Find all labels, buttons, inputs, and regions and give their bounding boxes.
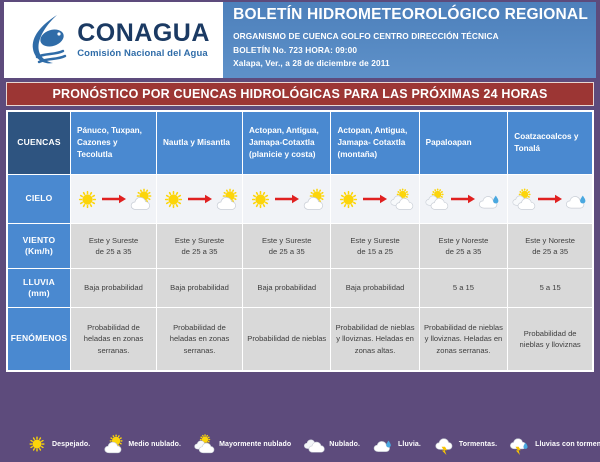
rain-cell: Baja probabilidad — [71, 269, 156, 307]
wind-speed: de 25 a 35 — [512, 246, 588, 257]
row-label-rain: LLUVIA (mm) — [8, 269, 70, 307]
mostly-cloudy-icon — [511, 187, 536, 212]
sunny-icon — [161, 187, 186, 212]
row-label-basins: CUENCAS — [8, 112, 70, 174]
sky-cell — [508, 175, 592, 223]
weather-legend: Despejado.Medio nublado.Mayormente nubla… — [0, 426, 600, 462]
wind-direction: Este y Sureste — [247, 235, 326, 246]
partly-cloudy-icon — [301, 187, 326, 212]
sunny-icon — [336, 187, 361, 212]
legend-label: Lluvias con tormentas. — [535, 441, 600, 448]
forecast-title-band: PRONÓSTICO POR CUENCAS HIDROLÓGICAS PARA… — [6, 82, 594, 106]
table-row-wind: VIENTO (Km/h) Este y Sureste de 25 a 35 … — [8, 224, 592, 268]
forecast-table: CUENCAS Pánuco, Tuxpan, Cazones y Tecolu… — [7, 111, 593, 371]
legend-label: Medio nublado. — [128, 441, 181, 448]
table-row-basins: CUENCAS Pánuco, Tuxpan, Cazones y Tecolu… — [8, 112, 592, 174]
table-row-rain: LLUVIA (mm) Baja probabilidad Baja proba… — [8, 269, 592, 307]
legend-item: Mayormente nublado — [193, 433, 291, 455]
basin-name-cell: Pánuco, Tuxpan, Cazones y Tecolutla — [71, 112, 156, 174]
row-label-rain-line2: (mm) — [9, 288, 69, 299]
wind-direction: Este y Sureste — [75, 235, 152, 246]
arrow-right-icon — [274, 194, 300, 204]
wind-speed: de 25 a 35 — [161, 246, 238, 257]
wind-cell: Este y Noreste de 25 a 35 — [508, 224, 592, 268]
partly-cloudy-icon — [128, 187, 153, 212]
rain-cell: Baja probabilidad — [157, 269, 242, 307]
header-text-block: BOLETÍN HIDROMETEOROLÓGICO REGIONAL ORGA… — [223, 2, 596, 78]
sunny-icon — [26, 433, 48, 455]
wind-cell: Este y Sureste de 25 a 35 — [71, 224, 156, 268]
sky-cell — [157, 175, 242, 223]
rain-storm-icon — [509, 433, 531, 455]
water-drop-eagle-emblem-icon — [27, 13, 71, 67]
mostly-cloudy-icon — [424, 187, 449, 212]
phenomena-cell: Probabilidad de nieblas y lloviznas. Hel… — [331, 308, 418, 370]
rain-cell: 5 a 15 — [508, 269, 592, 307]
phenomena-cell: Probabilidad de heladas en zonas serrana… — [71, 308, 156, 370]
sunny-icon — [75, 187, 100, 212]
wind-speed: de 25 a 35 — [247, 246, 326, 257]
basin-name-cell: Actopan, Antigua, Jamapa-Cotaxtla (plani… — [243, 112, 330, 174]
partly-cloudy-icon — [102, 433, 124, 455]
wind-direction: Este y Sureste — [161, 235, 238, 246]
sky-cell — [420, 175, 508, 223]
conagua-logo: CONAGUA Comisión Nacional del Agua — [4, 2, 223, 78]
rain-cell: Baja probabilidad — [331, 269, 418, 307]
legend-item: Tormentas. — [433, 433, 497, 455]
row-label-rain-line1: LLUVIA — [9, 277, 69, 288]
wind-direction: Este y Noreste — [512, 235, 588, 246]
row-label-wind: VIENTO (Km/h) — [8, 224, 70, 268]
sky-cell — [243, 175, 330, 223]
wind-speed: de 25 a 35 — [424, 246, 504, 257]
row-label-phenomena: FENÓMENOS — [8, 308, 70, 370]
bulletin-organism-line: ORGANISMO DE CUENCA GOLFO CENTRO DIRECCI… — [233, 31, 588, 41]
rain-cell: 5 a 15 — [420, 269, 508, 307]
arrow-right-icon — [101, 194, 127, 204]
forecast-table-wrapper: CUENCAS Pánuco, Tuxpan, Cazones y Tecolu… — [6, 110, 594, 372]
arrow-right-icon — [362, 194, 388, 204]
legend-label: Nublado. — [329, 441, 360, 448]
bulletin-number-line: BOLETÍN No. 723 HORA: 09:00 — [233, 45, 588, 55]
basin-name-cell: Actopan, Antigua, Jamapa- Cotaxtla (mont… — [331, 112, 418, 174]
legend-item: Nublado. — [303, 433, 360, 455]
mostly-cloudy-icon — [389, 187, 414, 212]
storm-icon — [433, 433, 455, 455]
partly-cloudy-icon — [214, 187, 239, 212]
arrow-right-icon — [450, 194, 476, 204]
rain-icon — [564, 187, 589, 212]
basin-name-cell: Coatzacoalcos y Tonalá — [508, 112, 592, 174]
wind-cell: Este y Noreste de 25 a 35 — [420, 224, 508, 268]
wind-direction: Este y Noreste — [424, 235, 504, 246]
row-label-wind-line2: (Km/h) — [9, 246, 69, 257]
legend-label: Despejado. — [52, 441, 90, 448]
legend-label: Tormentas. — [459, 441, 497, 448]
sunny-icon — [248, 187, 273, 212]
cloudy-icon — [303, 433, 325, 455]
table-row-phenomena: FENÓMENOS Probabilidad de heladas en zon… — [8, 308, 592, 370]
forecast-title-text: PRONÓSTICO POR CUENCAS HIDROLÓGICAS PARA… — [52, 87, 547, 101]
phenomena-cell: Probabilidad de nieblas — [243, 308, 330, 370]
row-label-wind-line1: VIENTO — [9, 235, 69, 246]
legend-item: Medio nublado. — [102, 433, 181, 455]
sky-cell — [331, 175, 418, 223]
table-row-sky: CIELO — [8, 175, 592, 223]
rain-icon — [477, 187, 502, 212]
phenomena-cell: Probabilidad de nieblas y lloviznas — [508, 308, 592, 370]
phenomena-cell: Probabilidad de nieblas y lloviznas. Hel… — [420, 308, 508, 370]
legend-item: Despejado. — [26, 433, 90, 455]
legend-label: Mayormente nublado — [219, 441, 291, 448]
phenomena-cell: Probabilidad de heladas en zonas serrana… — [157, 308, 242, 370]
bulletin-place-date-line: Xalapa, Ver., a 28 de diciembre de 2011 — [233, 58, 588, 68]
row-label-sky: CIELO — [8, 175, 70, 223]
mostly-cloudy-icon — [193, 433, 215, 455]
page-header: CONAGUA Comisión Nacional del Agua BOLET… — [0, 0, 600, 78]
rain-icon — [372, 433, 394, 455]
legend-label: Lluvia. — [398, 441, 421, 448]
legend-item: Lluvia. — [372, 433, 421, 455]
basin-name-cell: Nautla y Misantla — [157, 112, 242, 174]
arrow-right-icon — [187, 194, 213, 204]
wind-cell: Este y Sureste de 25 a 35 — [243, 224, 330, 268]
wind-speed: de 15 a 25 — [335, 246, 414, 257]
legend-item: Lluvias con tormentas. — [509, 433, 600, 455]
logo-subtitle: Comisión Nacional del Agua — [77, 49, 210, 59]
basin-name-cell: Papaloapan — [420, 112, 508, 174]
arrow-right-icon — [537, 194, 563, 204]
logo-title: CONAGUA — [77, 21, 210, 46]
wind-direction: Este y Sureste — [335, 235, 414, 246]
wind-cell: Este y Sureste de 15 a 25 — [331, 224, 418, 268]
sky-cell — [71, 175, 156, 223]
bulletin-main-title: BOLETÍN HIDROMETEOROLÓGICO REGIONAL — [233, 6, 588, 24]
wind-speed: de 25 a 35 — [75, 246, 152, 257]
wind-cell: Este y Sureste de 25 a 35 — [157, 224, 242, 268]
rain-cell: Baja probabilidad — [243, 269, 330, 307]
